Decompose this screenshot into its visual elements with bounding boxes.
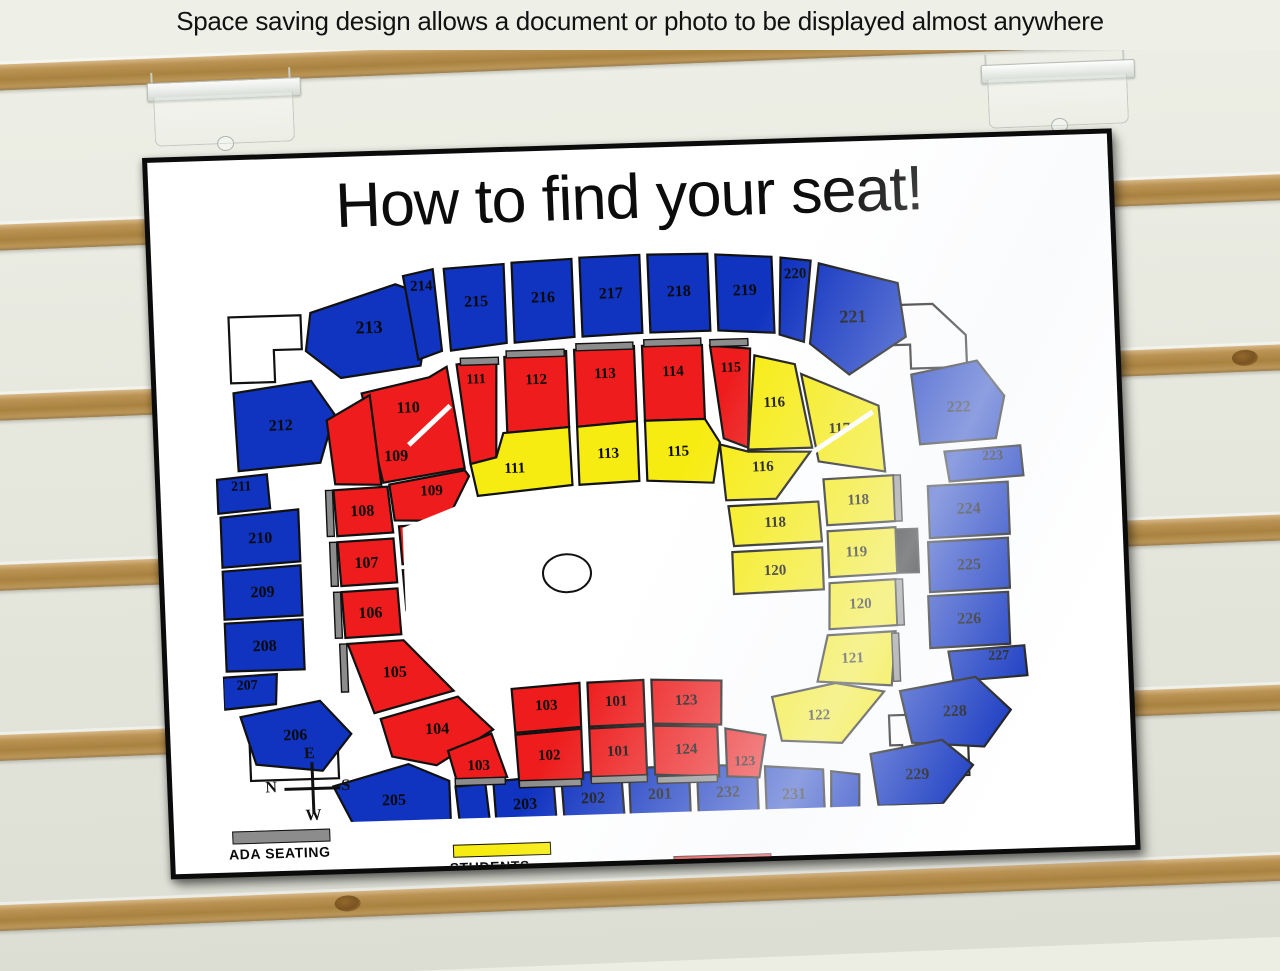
- ada-strip-101: [591, 775, 647, 784]
- ada-strip-103: [455, 777, 505, 786]
- legend-label-ada: ADA SEATING: [229, 844, 331, 863]
- ada-strip-115: [710, 339, 748, 347]
- section-label-122: 122: [807, 707, 830, 724]
- section-label-210: 210: [248, 530, 273, 548]
- section-label-120-outer: 120: [849, 596, 872, 613]
- section-label-217: 217: [598, 285, 623, 303]
- section-label-229: 229: [905, 766, 930, 784]
- bracket-hole-icon: [217, 136, 235, 152]
- ada-strip-105: [340, 644, 349, 692]
- compass-label-top: E: [304, 745, 315, 763]
- corner-concourse-nw: [228, 315, 303, 383]
- center-stage-ellipse: [542, 553, 592, 592]
- section-label-222: 222: [946, 398, 971, 416]
- section-label-223: 223: [982, 448, 1004, 464]
- ada-strip-107: [330, 542, 339, 586]
- section-label-202: 202: [581, 790, 606, 808]
- section-label-207: 207: [236, 678, 258, 694]
- ada-strip-118: [893, 475, 902, 521]
- section-label-105: 105: [383, 664, 408, 682]
- section-label-118-outer: 118: [847, 492, 869, 509]
- section-label-218: 218: [666, 283, 691, 301]
- ada-strip-111: [460, 357, 498, 365]
- section-label-208: 208: [252, 638, 277, 656]
- acrylic-bracket-right[interactable]: [981, 59, 1136, 137]
- section-label-205: 205: [382, 792, 407, 810]
- section-112: [504, 351, 569, 433]
- section-label-220: 220: [784, 266, 807, 283]
- section-label-225: 225: [957, 556, 982, 574]
- section-label-103-upper: 103: [535, 698, 558, 715]
- acrylic-bracket-left[interactable]: [147, 77, 302, 155]
- ada-strip-113: [576, 342, 633, 351]
- section-label-123-upper: 123: [675, 692, 698, 709]
- section-label-113-inner: 113: [597, 446, 619, 463]
- section-label-123-lower: 123: [734, 754, 756, 770]
- section-label-201: 201: [648, 786, 673, 804]
- section-label-227: 227: [988, 648, 1010, 664]
- ada-strip-108: [325, 490, 334, 536]
- ada-strip-120: [896, 579, 905, 625]
- section-123-lower: [725, 727, 767, 778]
- section-label-111-inner: 111: [504, 460, 525, 477]
- legend-swatch-students: [453, 842, 551, 858]
- section-label-103-outer: 103: [467, 758, 490, 775]
- compass-rose: E W N S: [266, 749, 364, 830]
- seating-chart[interactable]: .bal { fill:#1033c0; stroke:#111; stroke…: [206, 240, 1088, 826]
- section-114: [642, 344, 705, 421]
- ada-strip-121: [892, 633, 901, 681]
- section-113-upper: [574, 346, 637, 427]
- section-label-107: 107: [354, 554, 379, 572]
- entrance-block-119: [896, 528, 920, 573]
- section-label-203: 203: [513, 796, 538, 814]
- section-label-226: 226: [957, 610, 982, 628]
- ada-strip-106: [334, 592, 343, 638]
- section-label-124: 124: [675, 741, 699, 758]
- section-label-118-inner: 118: [764, 514, 786, 531]
- section-label-232: 232: [716, 784, 741, 802]
- poster-sheet: How to find your seat! .bal { fill:#1033…: [147, 134, 1135, 875]
- section-label-116-outer: 116: [763, 394, 786, 411]
- section-label-109-inner: 109: [420, 483, 443, 500]
- section-label-231: 231: [782, 785, 807, 803]
- section-label-115-inner: 115: [667, 443, 689, 460]
- section-label-108-outer: 108: [350, 503, 375, 521]
- compass-label-left: N: [265, 779, 277, 797]
- section-label-104: 104: [425, 720, 450, 738]
- ada-strip-102: [519, 779, 581, 788]
- section-label-209: 209: [250, 584, 275, 602]
- section-label-113-upper: 113: [594, 366, 616, 383]
- section-label-119: 119: [845, 544, 867, 561]
- legend-swatch-ada: [232, 829, 330, 845]
- section-label-216: 216: [531, 289, 556, 307]
- section-label-106-outer: 106: [358, 604, 383, 622]
- section-label-212: 212: [269, 417, 294, 435]
- section-label-121: 121: [841, 650, 864, 667]
- section-label-211: 211: [231, 479, 252, 495]
- section-label-102: 102: [538, 747, 561, 764]
- section-label-214: 214: [410, 278, 434, 295]
- compass-label-right: S: [341, 777, 351, 795]
- section-label-221: 221: [839, 306, 867, 327]
- section-label-109-outer: 109: [384, 448, 409, 466]
- framed-poster[interactable]: How to find your seat! .bal { fill:#1033…: [142, 128, 1141, 879]
- section-label-115-upper: 115: [720, 360, 741, 376]
- ada-strip-124: [657, 775, 717, 784]
- caption-band: Space saving design allows a document or…: [0, 0, 1280, 50]
- section-label-111-upper: 111: [466, 372, 486, 388]
- section-label-101-upper: 101: [605, 693, 628, 710]
- section-label-101-lower: 101: [607, 743, 630, 760]
- ada-strip-114: [644, 338, 701, 347]
- section-label-110: 110: [396, 399, 420, 417]
- section-label-116-inner: 116: [752, 459, 775, 476]
- section-label-228: 228: [943, 703, 968, 721]
- section-label-120-inner: 120: [764, 563, 787, 580]
- ada-strip-112: [506, 349, 564, 358]
- section-label-215: 215: [464, 293, 489, 311]
- caption-text: Space saving design allows a document or…: [0, 6, 1280, 37]
- section-label-114: 114: [662, 364, 685, 381]
- section-label-224: 224: [956, 500, 981, 518]
- section-label-206: 206: [283, 727, 308, 745]
- product-photo-scene: How to find your seat! .bal { fill:#1033…: [0, 0, 1280, 971]
- section-label-112: 112: [525, 372, 547, 389]
- section-label-219: 219: [732, 282, 757, 300]
- page-title: How to find your seat!: [148, 152, 1110, 244]
- section-label-213: 213: [355, 317, 383, 338]
